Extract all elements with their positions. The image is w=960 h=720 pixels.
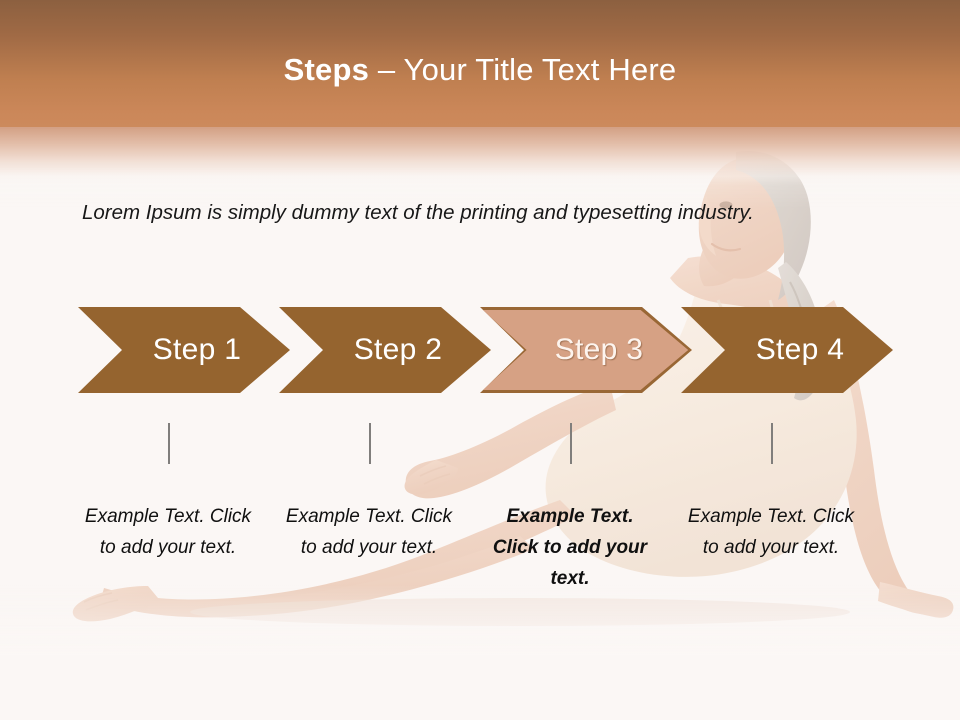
step-chevron-4[interactable]: Step 4	[681, 307, 893, 393]
slide-canvas: Steps – Your Title Text Here Lorem Ipsum…	[0, 0, 960, 720]
step-chevron-4-label: Step 4	[730, 333, 845, 367]
step-chevron-3-label: Step 3	[529, 333, 644, 367]
step-connector-tick-1	[168, 423, 170, 464]
step-chevron-2-fill: Step 2	[279, 307, 491, 393]
page-title-rest: – Your Title Text Here	[369, 52, 676, 87]
step-chevron-1[interactable]: Step 1	[78, 307, 290, 393]
step-caption-2[interactable]: Example Text. Click to add your text.	[283, 501, 455, 563]
step-chevron-4-fill: Step 4	[681, 307, 893, 393]
step-chevron-1-fill: Step 1	[78, 307, 290, 393]
step-chevron-2[interactable]: Step 2	[279, 307, 491, 393]
intro-paragraph: Lorem Ipsum is simply dummy text of the …	[82, 197, 894, 229]
page-title-bold: Steps	[284, 52, 369, 87]
step-chevron-3[interactable]: Step 3	[480, 307, 692, 393]
step-caption-1[interactable]: Example Text. Click to add your text.	[82, 501, 254, 563]
step-connector-tick-3	[570, 423, 572, 464]
step-chevron-1-label: Step 1	[127, 333, 242, 367]
step-connector-tick-2	[369, 423, 371, 464]
step-connector-tick-4	[771, 423, 773, 464]
step-caption-3[interactable]: Example Text. Click to add your text.	[484, 501, 656, 594]
header-fade-strip	[0, 127, 960, 185]
step-caption-4[interactable]: Example Text. Click to add your text.	[685, 501, 857, 563]
page-title: Steps – Your Title Text Here	[0, 53, 960, 87]
steps-chevron-row: Step 1 Step 2 Step 3 Step 4	[0, 307, 960, 393]
step-chevron-3-fill: Step 3	[480, 307, 692, 393]
step-chevron-2-label: Step 2	[328, 333, 443, 367]
